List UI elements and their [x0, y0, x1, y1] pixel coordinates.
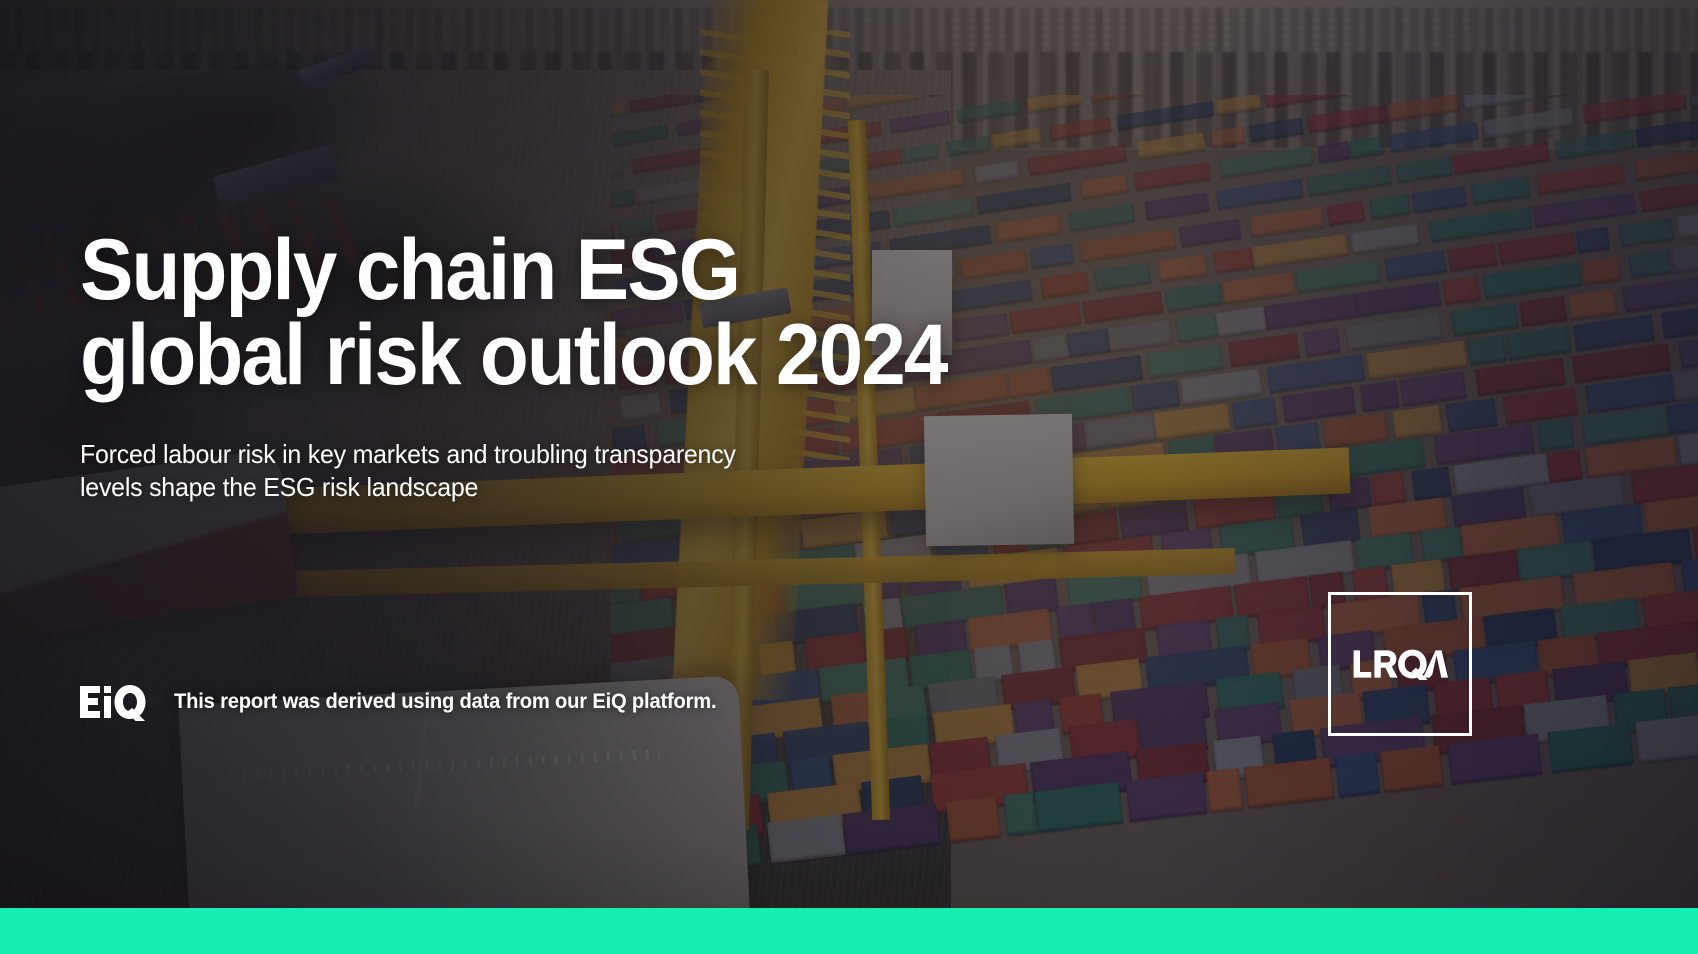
hero-content: Supply chain ESG global risk outlook 202… — [80, 0, 1180, 908]
eiq-logo-icon — [80, 682, 152, 722]
page-subtitle: Forced labour risk in key markets and tr… — [80, 438, 810, 505]
eiq-attribution: This report was derived using data from … — [80, 682, 739, 722]
eiq-attribution-text: This report was derived using data from … — [174, 690, 716, 714]
report-cover-page: Supply chain ESG global risk outlook 202… — [0, 0, 1698, 954]
accent-bar — [0, 908, 1698, 954]
page-title: Supply chain ESG global risk outlook 202… — [80, 228, 1047, 398]
lrqa-logo-icon — [1352, 647, 1448, 681]
lrqa-logo-badge — [1328, 592, 1472, 736]
